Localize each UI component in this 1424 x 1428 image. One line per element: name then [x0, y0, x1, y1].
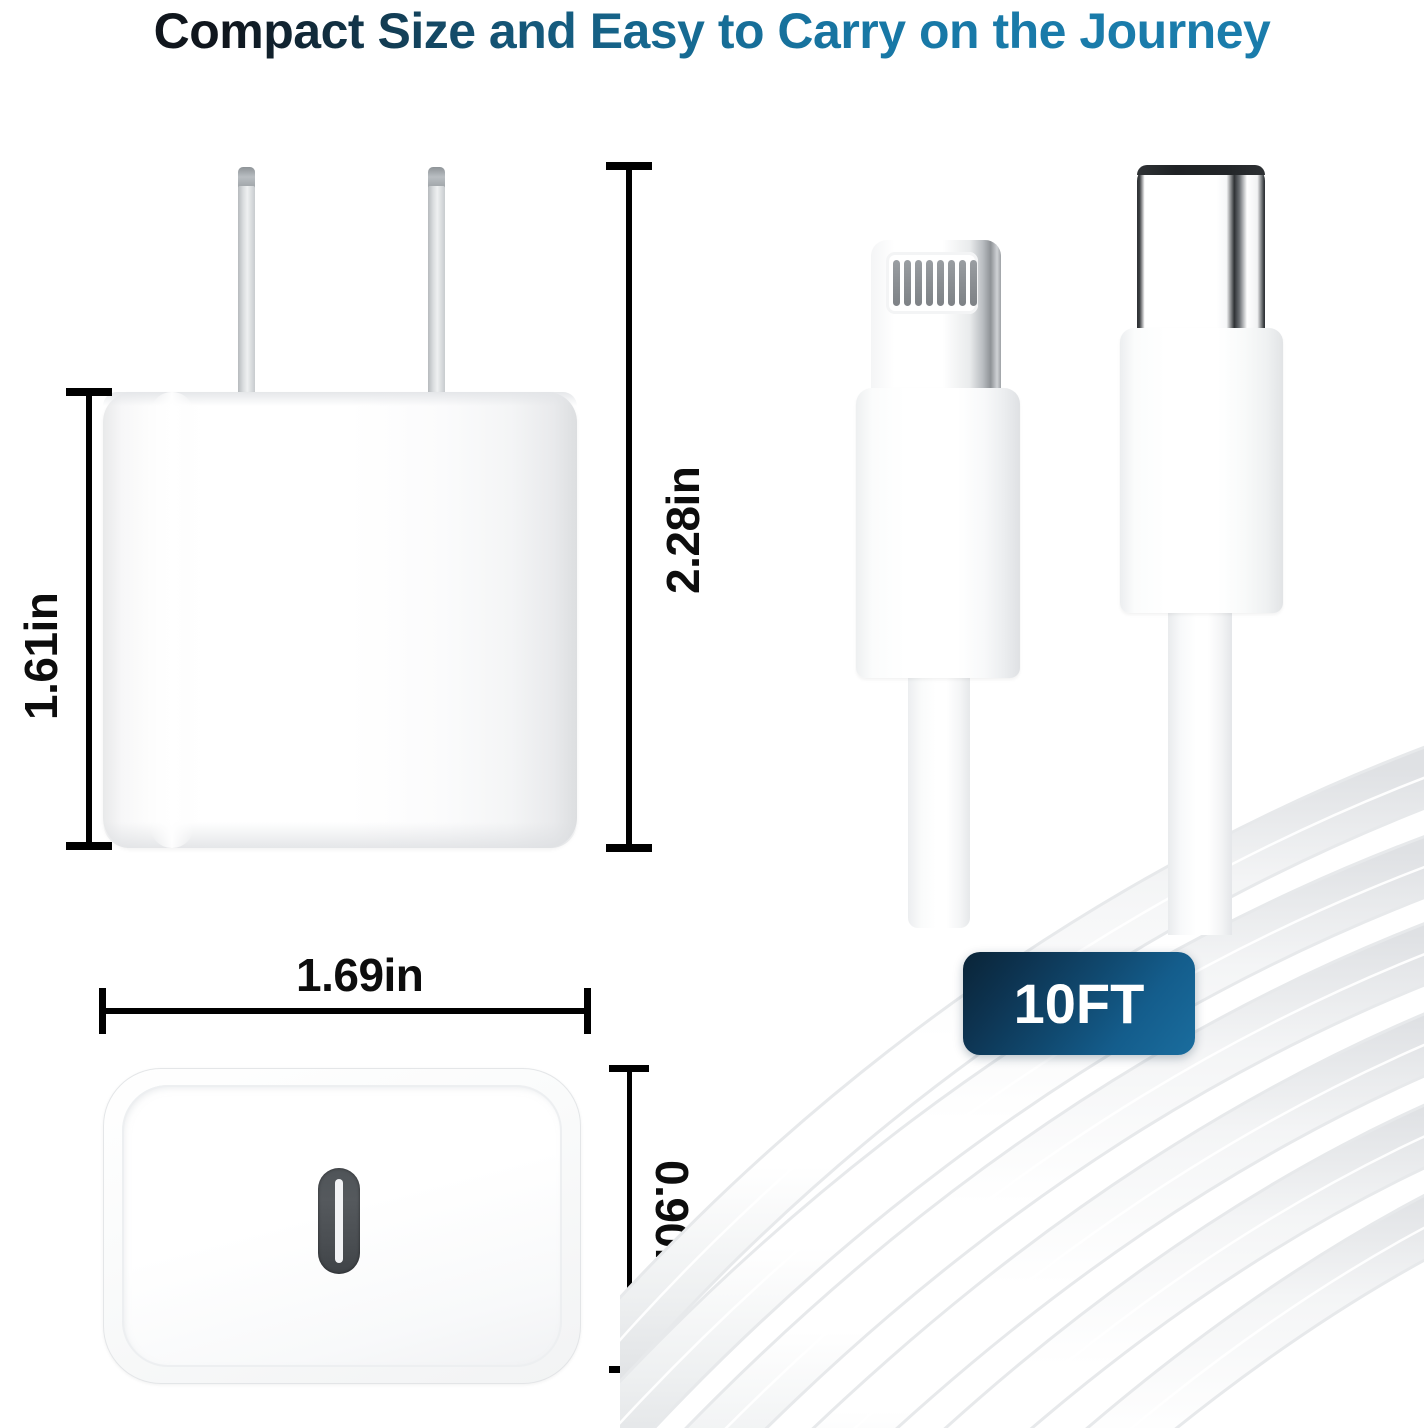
- dimension-cap-bottom: [66, 842, 112, 850]
- usb-c-housing: [1120, 328, 1283, 613]
- usb-c-tip-top-edge: [1137, 165, 1265, 175]
- dimension-shaft: [627, 1065, 632, 1373]
- dimension-label-depth-front: 2.28in: [656, 467, 710, 594]
- usb-c-port-inner-slot: [335, 1179, 343, 1263]
- dimension-cap-bottom: [609, 1366, 649, 1373]
- usb-c-cable-segment: [1168, 605, 1232, 935]
- dimension-cap-right: [584, 988, 591, 1034]
- lightning-pin: [926, 260, 933, 306]
- dimension-line-height-bottom: [608, 1065, 650, 1373]
- cable-length-badge-label: 10FT: [1014, 976, 1145, 1032]
- dimension-shaft: [99, 1008, 591, 1014]
- dimension-line-depth-front: [606, 162, 652, 852]
- product-infographic: Compact Size and Easy to Carry on the Jo…: [0, 0, 1424, 1428]
- dimension-cap-bottom: [606, 844, 652, 852]
- prong-left: [238, 186, 255, 399]
- lightning-pin: [893, 260, 900, 306]
- lightning-pin: [904, 260, 911, 306]
- lightning-pin: [915, 260, 922, 306]
- dimension-label-height-bottom: 0.90in: [645, 1160, 699, 1287]
- lightning-pin: [959, 260, 966, 306]
- cable-coil-strands: [620, 768, 1424, 1428]
- page-title: Compact Size and Easy to Carry on the Jo…: [0, 2, 1424, 60]
- lightning-pin: [970, 260, 977, 306]
- dimension-line-width-bottom: [99, 988, 591, 1034]
- lightning-pin: [937, 260, 944, 306]
- lightning-cable-segment: [908, 668, 970, 928]
- lightning-pin: [948, 260, 955, 306]
- dimension-label-height-front: 1.61in: [14, 593, 68, 720]
- usb-c-metal-tip: [1137, 165, 1265, 340]
- prong-right: [428, 186, 445, 399]
- dimension-shaft: [626, 162, 632, 852]
- dimension-line-height-front: [66, 388, 112, 850]
- lightning-housing: [856, 388, 1020, 678]
- charger-front-body: [103, 392, 577, 848]
- dimension-shaft: [86, 388, 92, 850]
- cable-length-badge: 10FT: [963, 952, 1195, 1055]
